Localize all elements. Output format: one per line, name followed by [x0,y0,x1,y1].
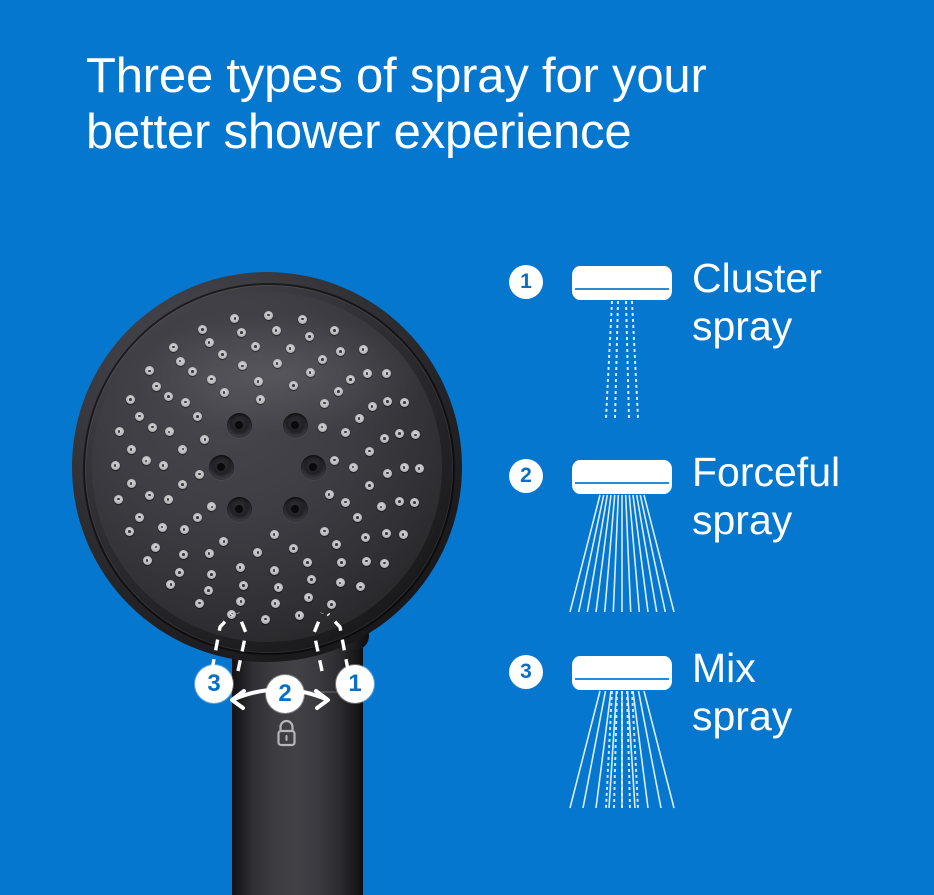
nozzle [181,398,190,407]
nozzle [180,525,189,534]
nozzle [395,429,404,438]
nozzle [238,361,247,370]
nozzle [271,599,280,608]
nozzle [169,343,178,352]
nozzle [355,414,364,423]
nozzle [361,533,370,542]
shower-head-face [92,292,442,642]
nozzle [411,430,420,439]
nozzle [200,435,209,444]
jet-nozzle [227,497,252,522]
nozzle [143,556,152,565]
nozzle [395,497,404,506]
nozzle [251,342,260,351]
nozzle [205,338,214,347]
nozzle [230,314,239,323]
nozzle [320,399,329,408]
legend-label-mix: Mix spray [692,644,934,740]
nozzle [365,447,374,456]
nozzle [179,550,188,559]
product-image [60,255,500,895]
nozzle [164,392,173,401]
nozzle [318,423,327,432]
nozzle [135,412,144,421]
nozzle [295,611,304,620]
spray-lines-mix [562,650,692,830]
nozzle [380,559,389,568]
nozzle [337,558,346,567]
nozzle [400,398,409,407]
nozzle [400,463,409,472]
nozzle [164,495,173,504]
nozzle [270,566,279,575]
nozzle [175,568,184,577]
nozzle [270,530,279,539]
nozzle [227,610,236,619]
nozzle [237,328,246,337]
legend-label-forceful: Forceful spray [692,448,934,544]
nozzle [115,427,124,436]
nozzle [239,581,248,590]
nozzle [158,523,167,532]
nozzle [298,315,307,324]
nozzle [327,600,336,609]
nozzle [253,548,262,557]
nozzle [193,412,202,421]
infographic-canvas: Three types of spray for your better sho… [0,0,934,895]
nozzle [165,427,174,436]
nozzle [305,332,314,341]
nozzle [359,345,368,354]
nozzle [356,582,365,591]
nozzle [125,527,134,536]
shower-head-forceful-icon [562,454,692,634]
page-title: Three types of spray for your better sho… [86,48,826,160]
callout-marker-3[interactable]: 3 [195,665,233,703]
nozzle [353,513,362,522]
nozzle [318,355,327,364]
nozzle [415,464,424,473]
nozzle [151,543,160,552]
shower-head-cluster-icon [562,260,692,440]
jet-nozzle [283,413,308,438]
nozzle [320,527,329,536]
nozzle [383,469,392,478]
nozzle [254,377,263,386]
nozzle [178,480,187,489]
nozzle [256,395,265,404]
nozzle [362,557,371,566]
nozzle [272,326,281,335]
nozzle [380,434,389,443]
shower-head-mix-icon [562,650,692,830]
nozzle [336,578,345,587]
legend-badge-1: 1 [509,265,543,299]
nozzle [325,490,334,499]
nozzle [306,368,315,377]
spray-lines-cluster [562,260,692,440]
nozzle [236,597,245,606]
spray-lines-forceful [562,454,692,634]
jet-nozzle [227,413,252,438]
legend-badge-2: 2 [509,459,543,493]
nozzle [205,549,214,558]
nozzle [341,428,350,437]
nozzle [127,445,136,454]
nozzle [307,575,316,584]
nozzle [289,544,298,553]
legend-item-mix[interactable]: 3 Mix spray [500,648,934,838]
nozzle [332,540,341,549]
nozzle [341,498,350,507]
nozzle [363,369,372,378]
nozzle [188,367,197,376]
nozzle [176,357,185,366]
nozzle [399,530,408,539]
nozzle [127,479,136,488]
nozzle [368,402,377,411]
legend-label-cluster: Cluster spray [692,254,934,350]
nozzle [126,395,135,404]
legend-item-forceful[interactable]: 2 Forceful spray [500,452,934,642]
nozzle [195,599,204,608]
padlock-icon [273,718,300,748]
legend-item-cluster[interactable]: 1 Cluster spray [500,258,934,448]
nozzle [111,461,120,470]
nozzle [195,470,204,479]
nozzle [264,311,273,320]
nozzle [336,347,345,356]
nozzle [273,359,282,368]
callout-marker-1[interactable]: 1 [336,665,374,703]
nozzle [289,381,298,390]
nozzle [382,529,391,538]
nozzle [152,382,161,391]
nozzle [303,558,312,567]
nozzle [207,570,216,579]
nozzle [349,463,358,472]
callout-marker-2[interactable]: 2 [266,675,304,713]
nozzle [142,456,151,465]
nozzle [178,445,187,454]
nozzle [193,513,202,522]
nozzle [334,387,343,396]
nozzle [261,615,270,624]
nozzle [159,461,168,470]
jet-nozzle [301,455,326,480]
nozzle [204,586,213,595]
nozzle [166,580,175,589]
nozzle [304,593,313,602]
nozzle [383,397,392,406]
nozzle [148,423,157,432]
nozzle [218,350,227,359]
nozzle [198,325,207,334]
nozzle [145,366,154,375]
jet-nozzle [209,455,234,480]
nozzle [274,583,283,592]
nozzle [330,326,339,335]
nozzle [207,375,216,384]
nozzle [236,563,245,572]
nozzle [410,498,419,507]
nozzle [220,388,229,397]
nozzle [346,375,355,384]
nozzle [286,344,295,353]
jet-nozzle [283,497,308,522]
shower-handle [232,625,363,895]
nozzle [219,537,228,546]
legend-badge-3: 3 [509,655,543,689]
nozzle [365,481,374,490]
nozzle [377,502,386,511]
nozzle [207,502,216,511]
nozzle [114,495,123,504]
nozzle [382,369,391,378]
nozzle [330,456,339,465]
nozzle [145,491,154,500]
nozzle [135,513,144,522]
